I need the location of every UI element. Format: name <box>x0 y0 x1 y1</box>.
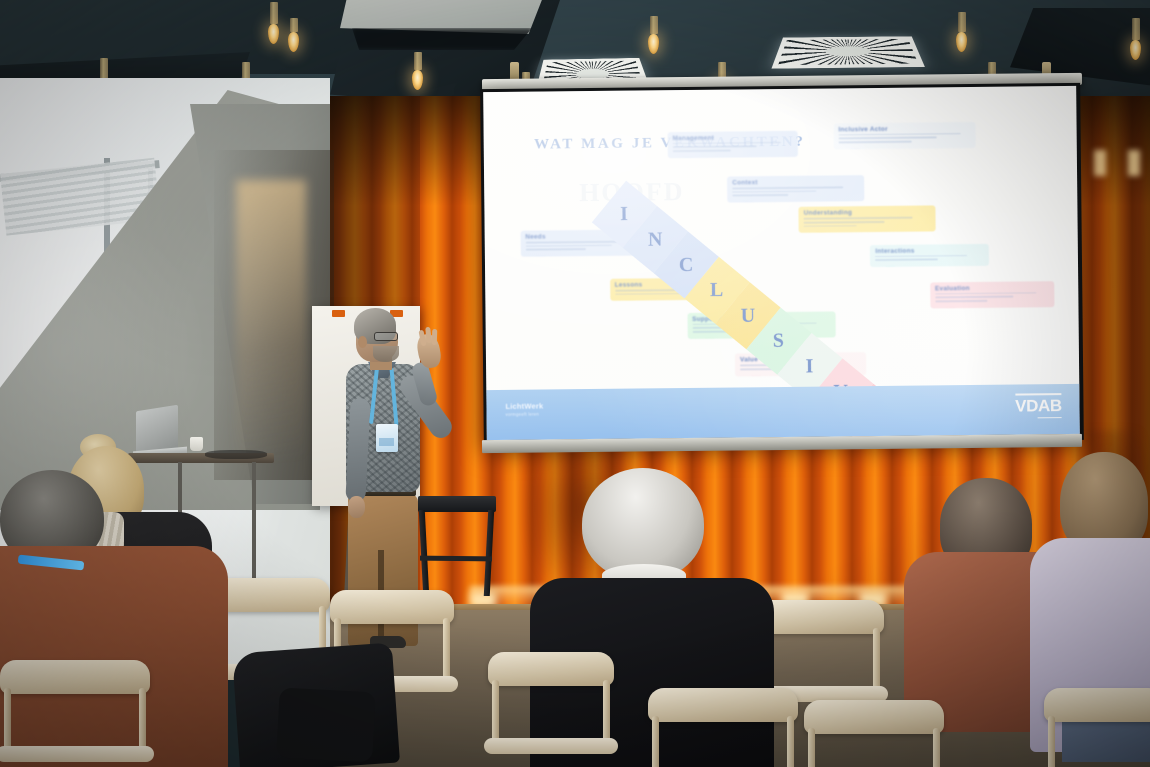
card-lines <box>930 292 1055 308</box>
slide-card-context: Context <box>727 175 864 202</box>
vdab-logo: VDAB <box>1015 393 1062 419</box>
chair-backrest <box>1044 688 1150 722</box>
presenter-ear <box>358 336 367 348</box>
presenter-beard <box>373 346 399 362</box>
tray <box>205 450 267 459</box>
sunlight-streak <box>236 180 306 460</box>
card-title: Context <box>727 175 863 187</box>
lichtwerk-wordmark: LichtWerk <box>505 401 543 410</box>
card-lines <box>727 186 864 202</box>
pendant-light <box>288 18 299 52</box>
chair <box>648 688 798 767</box>
card-title: Understanding <box>799 206 935 218</box>
slide-card-interactions: Interactions <box>870 243 989 266</box>
projection-screen: WAT MAG JE VERWACHTEN? HOOFD Inclusive A… <box>480 83 1084 446</box>
lichtwerk-tagline: vormgeeft leren <box>505 411 543 416</box>
chair-backrest <box>648 688 798 722</box>
conference-room-photo: WAT MAG JE VERWACHTEN? HOOFD Inclusive A… <box>0 0 1150 767</box>
air-diffuser-icon <box>771 36 924 68</box>
slide-card-management: Management <box>667 131 798 158</box>
chair-post <box>787 716 794 767</box>
slide-card-understanding: Understanding <box>799 206 936 233</box>
chair-seat <box>484 738 618 754</box>
presenter-near-hand <box>348 496 365 518</box>
pendant-light <box>956 12 967 52</box>
slide-content: WAT MAG JE VERWACHTEN? HOOFD Inclusive A… <box>483 86 1080 440</box>
slide-card-evaluation: Evaluation <box>930 281 1055 308</box>
pendant-light <box>268 2 279 44</box>
presenter-finger <box>425 327 432 343</box>
lichtwerk-logo: LichtWerk vormgeeft leren <box>505 401 543 416</box>
vdab-rule-bottom <box>1038 417 1062 419</box>
pendant-light <box>1130 18 1141 60</box>
card-title: Inclusive Actor <box>833 122 975 134</box>
card-title: Interactions <box>870 243 989 255</box>
chair-seat <box>0 746 154 762</box>
chair <box>0 660 150 767</box>
card-title: Management <box>667 131 798 143</box>
chair <box>804 700 944 767</box>
chair-post <box>808 728 815 767</box>
chair-backrest <box>488 652 614 686</box>
presenter-badge <box>376 424 398 452</box>
slide-ghost-subtext <box>585 168 587 174</box>
chair-post <box>1048 716 1055 767</box>
pendant-light <box>648 16 659 54</box>
vdab-wordmark: VDAB <box>1015 396 1062 416</box>
pendant-light <box>412 52 423 90</box>
card-lines <box>668 142 799 158</box>
card-title: Evaluation <box>930 281 1055 293</box>
chair-backrest <box>330 590 454 624</box>
card-lines <box>833 133 975 149</box>
chair <box>488 652 614 767</box>
chair-post <box>652 716 659 767</box>
chair-backrest <box>0 660 150 694</box>
slide-card-inclusive-actor: Inclusive Actor <box>833 122 976 149</box>
table-leg <box>252 462 256 580</box>
bag <box>276 688 376 763</box>
chair-backrest <box>804 700 944 734</box>
slide-footer-banner: LichtWerk vormgeeft leren VDAB <box>486 383 1079 440</box>
chair <box>1044 688 1150 767</box>
glasses-icon <box>374 332 398 341</box>
ceiling-housing-shadow <box>352 28 532 50</box>
card-lines <box>870 254 989 266</box>
presenter-finger <box>432 329 438 345</box>
chair-post <box>933 728 940 767</box>
card-lines <box>799 217 936 233</box>
